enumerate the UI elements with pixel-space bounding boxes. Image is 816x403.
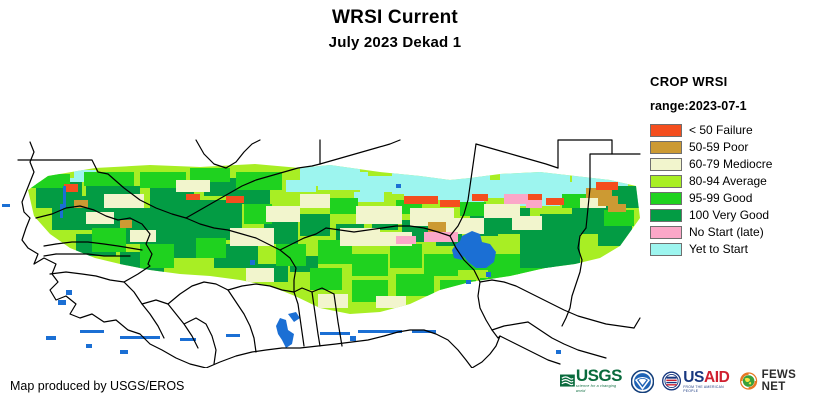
title-block: WRSI Current July 2023 Dekad 1 (0, 6, 790, 54)
legend-item-no-start[interactable]: No Start (late) (650, 224, 816, 241)
legend-label-good: 95-99 Good (689, 192, 752, 205)
legend-label-poor: 50-59 Poor (689, 141, 748, 154)
map-credit: Map produced by USGS/EROS (10, 379, 184, 394)
legend-label-failure: < 50 Failure (689, 124, 753, 137)
page-subtitle: July 2023 Dekad 1 (0, 32, 790, 54)
legend-swatch-poor (650, 141, 682, 154)
legend-item-failure[interactable]: < 50 Failure (650, 122, 816, 139)
usaid-tagline: FROM THE AMERICAN PEOPLE (683, 385, 732, 393)
legend-swatch-failure (650, 124, 682, 137)
legend-item-very-good[interactable]: 100 Very Good (650, 207, 816, 224)
usaid-wordmark-aid: AID (704, 370, 730, 385)
legend-swatch-mediocre (650, 158, 682, 171)
legend-item-yet-to-start[interactable]: Yet to Start (650, 241, 816, 258)
legend-swatch-no-start (650, 226, 682, 239)
fews-globe-icon (740, 370, 757, 392)
legend-label-yet-to-start: Yet to Start (689, 243, 748, 256)
legend-swatch-very-good (650, 209, 682, 222)
legend-label-very-good: 100 Very Good (689, 209, 769, 222)
legend-item-mediocre[interactable]: 60-79 Mediocre (650, 156, 816, 173)
usaid-wordmark-us: US (683, 370, 704, 385)
legend-item-poor[interactable]: 50-59 Poor (650, 139, 816, 156)
agency-logo-bar: USGS science for a changing world USAID (560, 366, 810, 396)
usgs-wordmark: USGS (576, 368, 623, 384)
legend-label-average: 80-94 Average (689, 175, 767, 188)
page-title: WRSI Current (0, 6, 790, 30)
usaid-seal-icon (662, 370, 681, 392)
legend-label-no-start: No Start (late) (689, 226, 764, 239)
legend-swatch-yet-to-start (650, 243, 682, 256)
legend-range-label: range:2023-07-1 (650, 99, 816, 114)
legend-label-mediocre: 60-79 Mediocre (689, 158, 772, 171)
fews-net-wordmark: FEWS NET (762, 369, 810, 393)
fews-net-logo[interactable]: FEWS NET (740, 367, 810, 395)
usgs-logo[interactable]: USGS science for a changing world (560, 367, 623, 395)
legend-swatch-good (650, 192, 682, 205)
legend-item-list: < 50 Failure 50-59 Poor 60-79 Mediocre 8… (650, 122, 816, 258)
legend-item-average[interactable]: 80-94 Average (650, 173, 816, 190)
usgs-tagline: science for a changing world (576, 384, 623, 394)
noaa-logo[interactable] (631, 367, 654, 395)
map-canvas[interactable] (0, 68, 645, 368)
legend-heading: CROP WRSI (650, 74, 816, 90)
legend-item-good[interactable]: 95-99 Good (650, 190, 816, 207)
legend-swatch-average (650, 175, 682, 188)
usaid-logo[interactable]: USAID FROM THE AMERICAN PEOPLE (662, 367, 732, 395)
usgs-mark-icon (560, 371, 575, 391)
map-legend: CROP WRSI range:2023-07-1 < 50 Failure 5… (650, 74, 816, 258)
map-svg (0, 68, 645, 368)
noaa-seal-icon (631, 370, 654, 393)
